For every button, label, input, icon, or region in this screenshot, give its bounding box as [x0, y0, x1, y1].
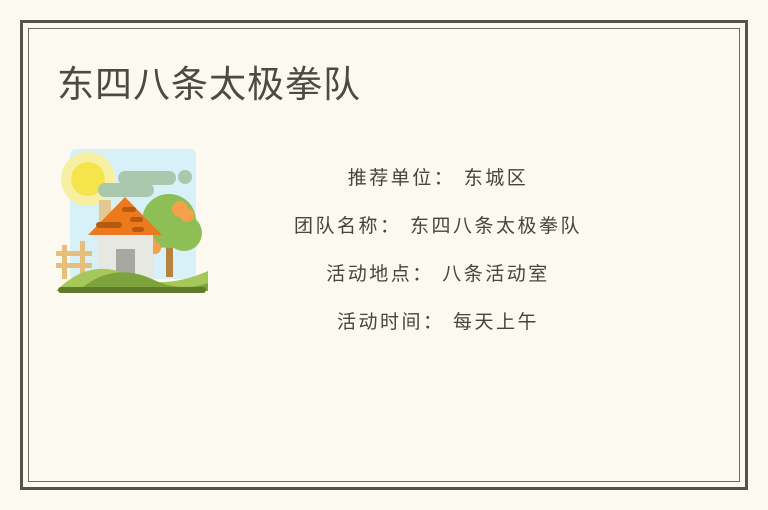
cloud-dot-icon [178, 170, 192, 184]
ground-strip [58, 287, 206, 293]
fence-rail-bottom [56, 263, 92, 268]
roof-tile-3 [130, 217, 143, 222]
illustration-svg [56, 145, 208, 297]
roof-tile-1 [96, 222, 122, 228]
fence-rail-top [56, 251, 92, 256]
details-block: 推荐单位： 东城区 团队名称： 东四八条太极拳队 活动地点： 八条活动室 活动时… [228, 154, 648, 346]
detail-line-team-name: 团队名称： 东四八条太极拳队 [228, 202, 648, 250]
tree-fruit-2 [180, 208, 194, 222]
house-landscape-illustration [56, 145, 208, 297]
page-title: 东四八条太极拳队 [57, 62, 361, 108]
fence-post-1 [62, 245, 67, 279]
roof-tile-4 [132, 227, 144, 232]
detail-line-recommending-unit: 推荐单位： 东城区 [228, 154, 648, 202]
detail-line-activity-location: 活动地点： 八条活动室 [228, 250, 648, 298]
cloud-lower-icon [98, 183, 154, 197]
page-root: 东四八条太极拳队 [0, 0, 768, 510]
cloud-upper-icon [118, 171, 176, 185]
detail-line-activity-time: 活动时间： 每天上午 [228, 298, 648, 346]
roof-tile-2 [122, 207, 136, 212]
